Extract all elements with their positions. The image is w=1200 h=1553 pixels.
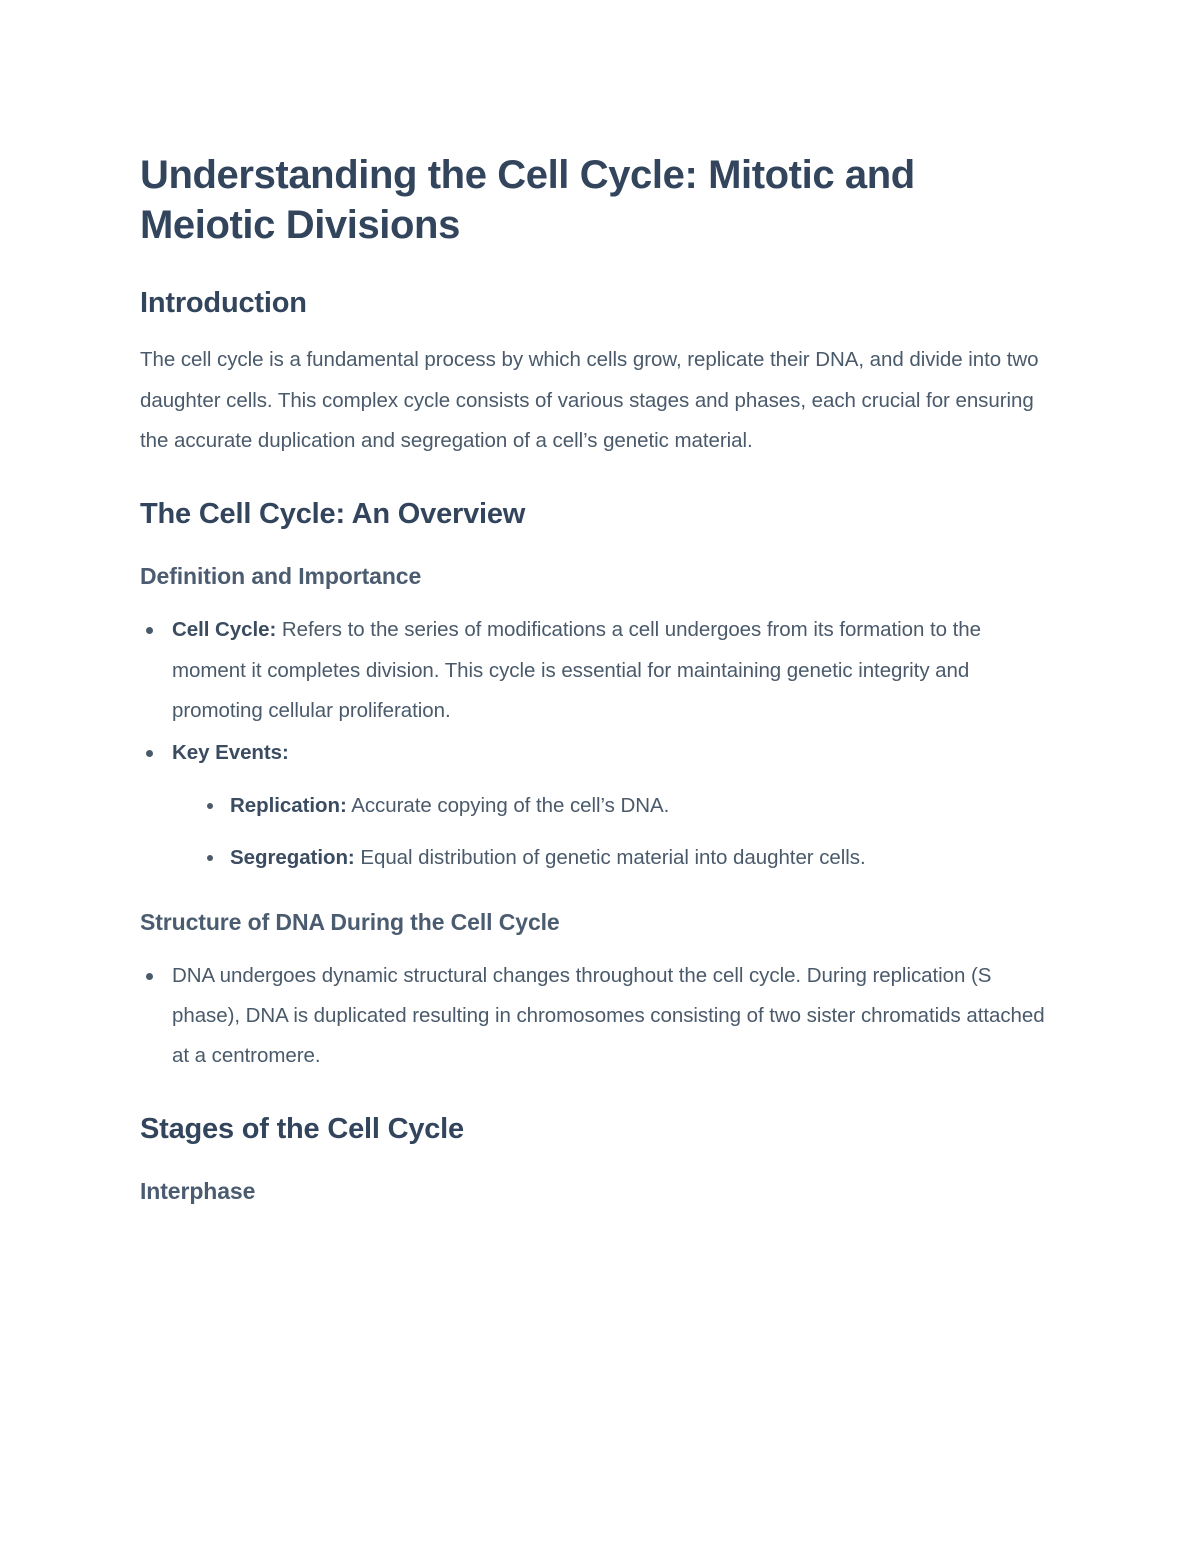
bullet-text: DNA undergoes dynamic structural changes… — [172, 964, 1045, 1068]
list-item: Segregation: Equal distribution of genet… — [200, 838, 1055, 878]
bullet-lead-label: Replication: — [230, 794, 347, 817]
list-item: Key Events: Replication: Accurate copyin… — [140, 733, 1055, 878]
subsection-heading-interphase: Interphase — [140, 1176, 1055, 1207]
list-item: Replication: Accurate copying of the cel… — [200, 786, 1055, 826]
list-item: Cell Cycle: Refers to the series of modi… — [140, 610, 1055, 731]
document-page: Understanding the Cell Cycle: Mitotic an… — [0, 0, 1200, 1553]
section-heading-stages-of-the-cell-cycle: Stages of the Cell Cycle — [140, 1111, 1055, 1149]
structure-of-dna-bullet-list: DNA undergoes dynamic structural changes… — [140, 956, 1055, 1077]
bullet-text: Accurate copying of the cell’s DNA. — [347, 794, 670, 817]
bullet-lead-label: Key Events: — [172, 741, 289, 764]
subsection-heading-structure-of-dna: Structure of DNA During the Cell Cycle — [140, 907, 1055, 938]
page-title: Understanding the Cell Cycle: Mitotic an… — [140, 150, 1030, 251]
bullet-text: Equal distribution of genetic material i… — [355, 846, 866, 869]
section-heading-cell-cycle-overview: The Cell Cycle: An Overview — [140, 496, 1055, 534]
list-item: DNA undergoes dynamic structural changes… — [140, 956, 1055, 1077]
bullet-lead-label: Segregation: — [230, 846, 355, 869]
bullet-lead-label: Cell Cycle: — [172, 618, 276, 641]
definition-bullet-list: Cell Cycle: Refers to the series of modi… — [140, 610, 1055, 878]
bullet-text: Refers to the series of modifications a … — [172, 618, 981, 722]
subsection-heading-definition-and-importance: Definition and Importance — [140, 561, 1055, 592]
key-events-nested-list: Replication: Accurate copying of the cel… — [172, 786, 1055, 879]
section-heading-introduction: Introduction — [140, 285, 1055, 323]
introduction-paragraph: The cell cycle is a fundamental process … — [140, 340, 1055, 461]
